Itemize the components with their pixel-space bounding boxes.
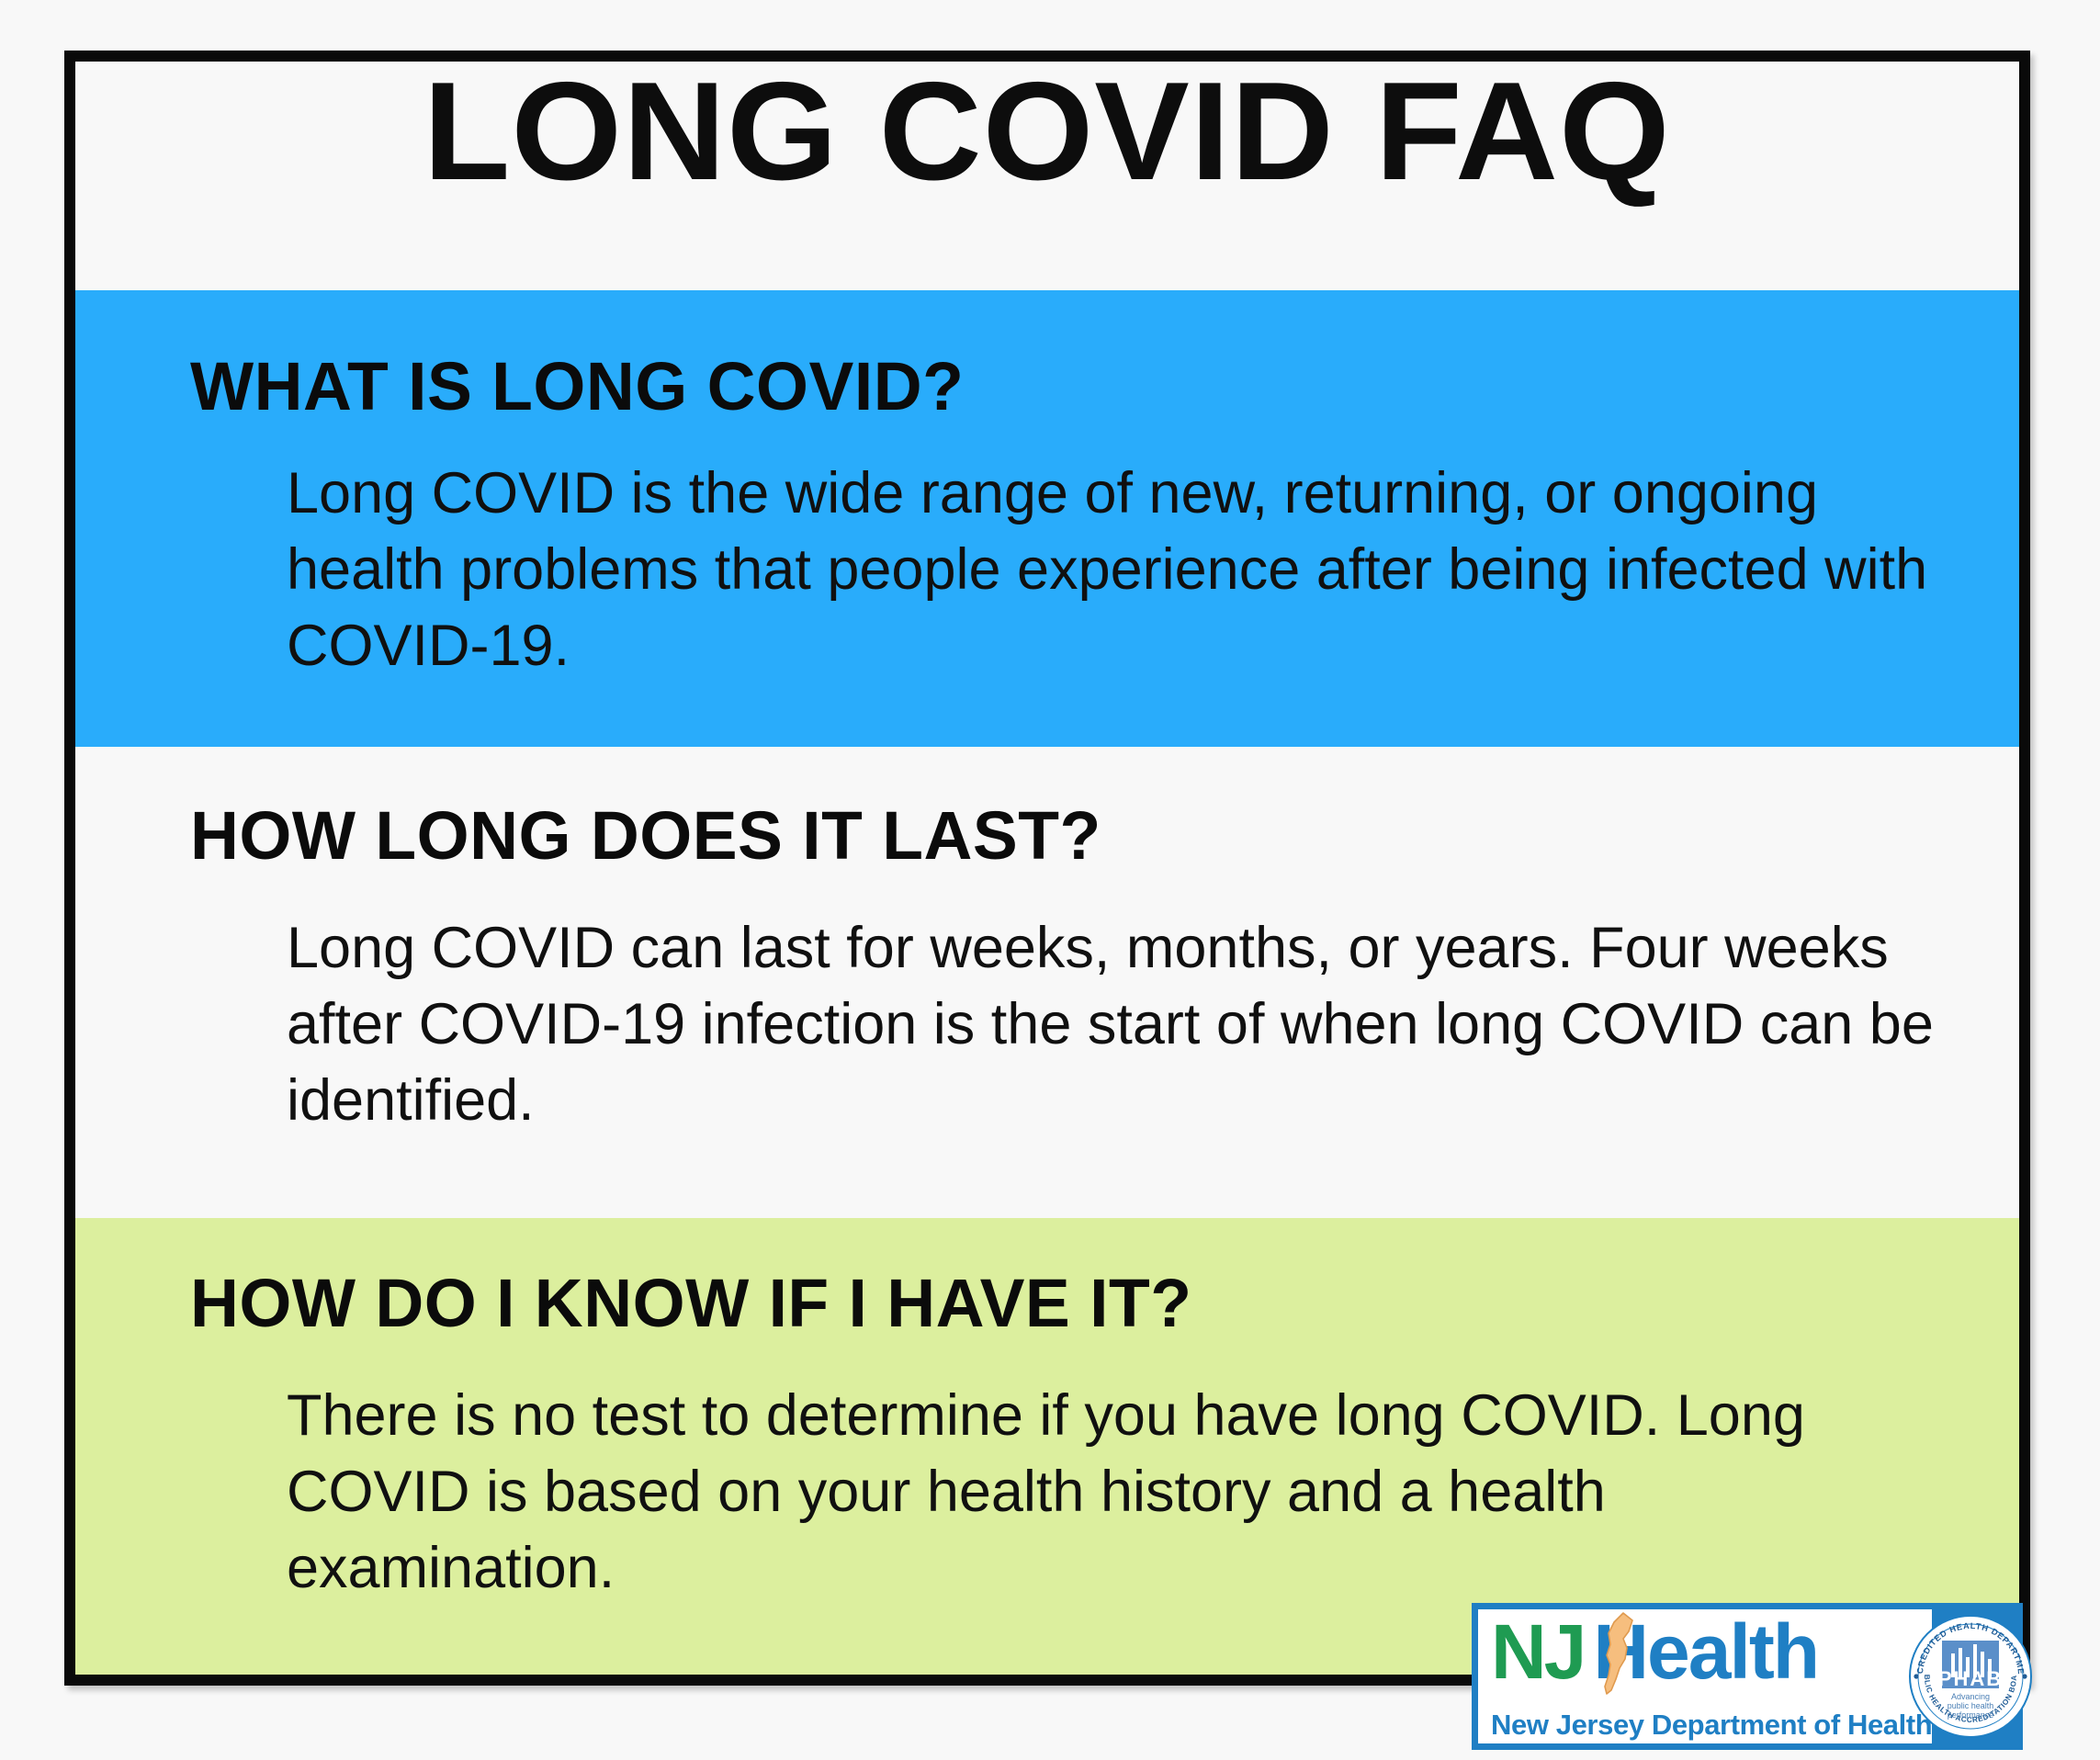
faq-card: LONG COVID FAQ WHAT IS LONG COVID? Long … <box>64 51 2030 1686</box>
nj-health-wordmark: NJ Health <box>1491 1613 1818 1690</box>
nj-health-wordmark-box: NJ Health New Jersey Department of Healt… <box>1472 1603 1938 1750</box>
page-title: LONG COVID FAQ <box>423 62 1671 201</box>
faq-question-2: HOW LONG DOES IT LAST? <box>190 747 1947 870</box>
phab-seal-box: ACCREDITED HEALTH DEPARTMENT PUBLIC HEAL… <box>1938 1603 2023 1750</box>
new-jersey-state-outline-icon <box>1596 1611 1640 1696</box>
faq-question-3: HOW DO I KNOW IF I HAVE IT? <box>190 1218 1947 1337</box>
svg-text:PHAB: PHAB <box>1938 1667 2003 1690</box>
faq-answer-3: There is no test to determine if you hav… <box>190 1337 1940 1607</box>
svg-text:performance: performance <box>1948 1710 1994 1720</box>
faq-section-what-is-long-covid: WHAT IS LONG COVID? Long COVID is the wi… <box>75 290 2019 747</box>
nj-health-logo: NJ Health New Jersey Department of Healt… <box>1472 1603 2023 1750</box>
title-band: LONG COVID FAQ <box>75 62 2019 290</box>
poster-canvas: LONG COVID FAQ WHAT IS LONG COVID? Long … <box>0 0 2100 1760</box>
faq-answer-1: Long COVID is the wide range of new, ret… <box>190 421 1940 684</box>
department-name-text: New Jersey Department of Health <box>1491 1710 1932 1739</box>
faq-question-1: WHAT IS LONG COVID? <box>190 290 1947 421</box>
nj-initials-text: NJ <box>1491 1613 1584 1690</box>
faq-answer-2: Long COVID can last for weeks, months, o… <box>190 870 1940 1139</box>
phab-accreditation-seal-icon: ACCREDITED HEALTH DEPARTMENT PUBLIC HEAL… <box>1907 1613 2034 1740</box>
svg-text:Advancing: Advancing <box>1951 1692 1990 1701</box>
nj-health-wordmark-inner: NJ Health New Jersey Department of Healt… <box>1478 1609 1932 1743</box>
svg-text:public health: public health <box>1948 1701 1994 1710</box>
faq-section-how-long-does-it-last: HOW LONG DOES IT LAST? Long COVID can la… <box>75 747 2019 1218</box>
